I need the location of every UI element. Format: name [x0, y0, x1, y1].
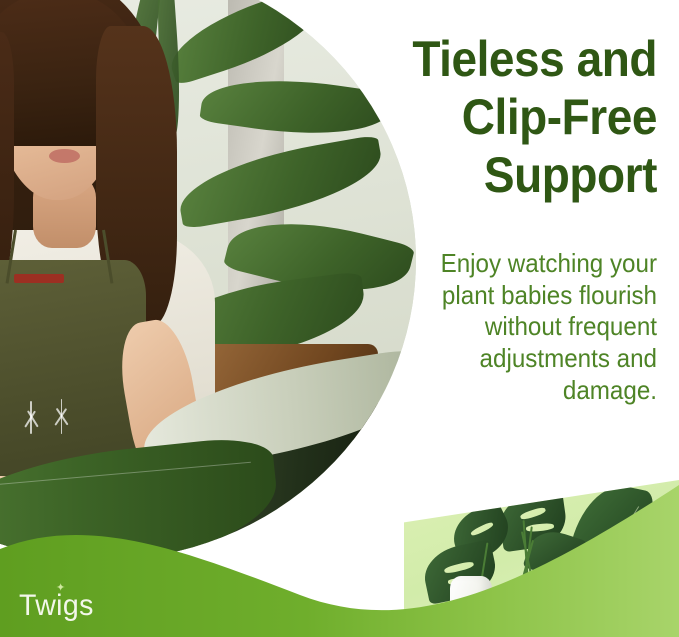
- subcopy-line-4: adjustments and: [415, 343, 657, 375]
- subcopy-line-5: damage.: [415, 375, 657, 407]
- headline-line-3: Support: [372, 146, 657, 204]
- brand-wordmark: Twigs: [19, 589, 94, 623]
- subcopy-line-3: without frequent: [415, 311, 657, 343]
- promo-banner: Tieless and Clip-Free Support Enjoy watc…: [0, 0, 679, 637]
- headline-line-2: Clip-Free: [372, 88, 657, 146]
- lifestyle-photo-circle: [0, 0, 416, 560]
- wave-shape: [0, 485, 679, 637]
- subcopy-line-2: plant babies flourish: [415, 280, 657, 312]
- green-wave-banner: [0, 477, 679, 637]
- headline-line-1: Tieless and: [372, 30, 657, 88]
- page-title: Tieless and Clip-Free Support: [372, 30, 657, 204]
- photo-content: [0, 0, 416, 560]
- subheading-copy: Enjoy watching your plant babies flouris…: [415, 248, 657, 407]
- apron-label-tag: [14, 274, 64, 282]
- subcopy-line-1: Enjoy watching your: [415, 248, 657, 280]
- sparkle-icon: ✦: [56, 584, 65, 593]
